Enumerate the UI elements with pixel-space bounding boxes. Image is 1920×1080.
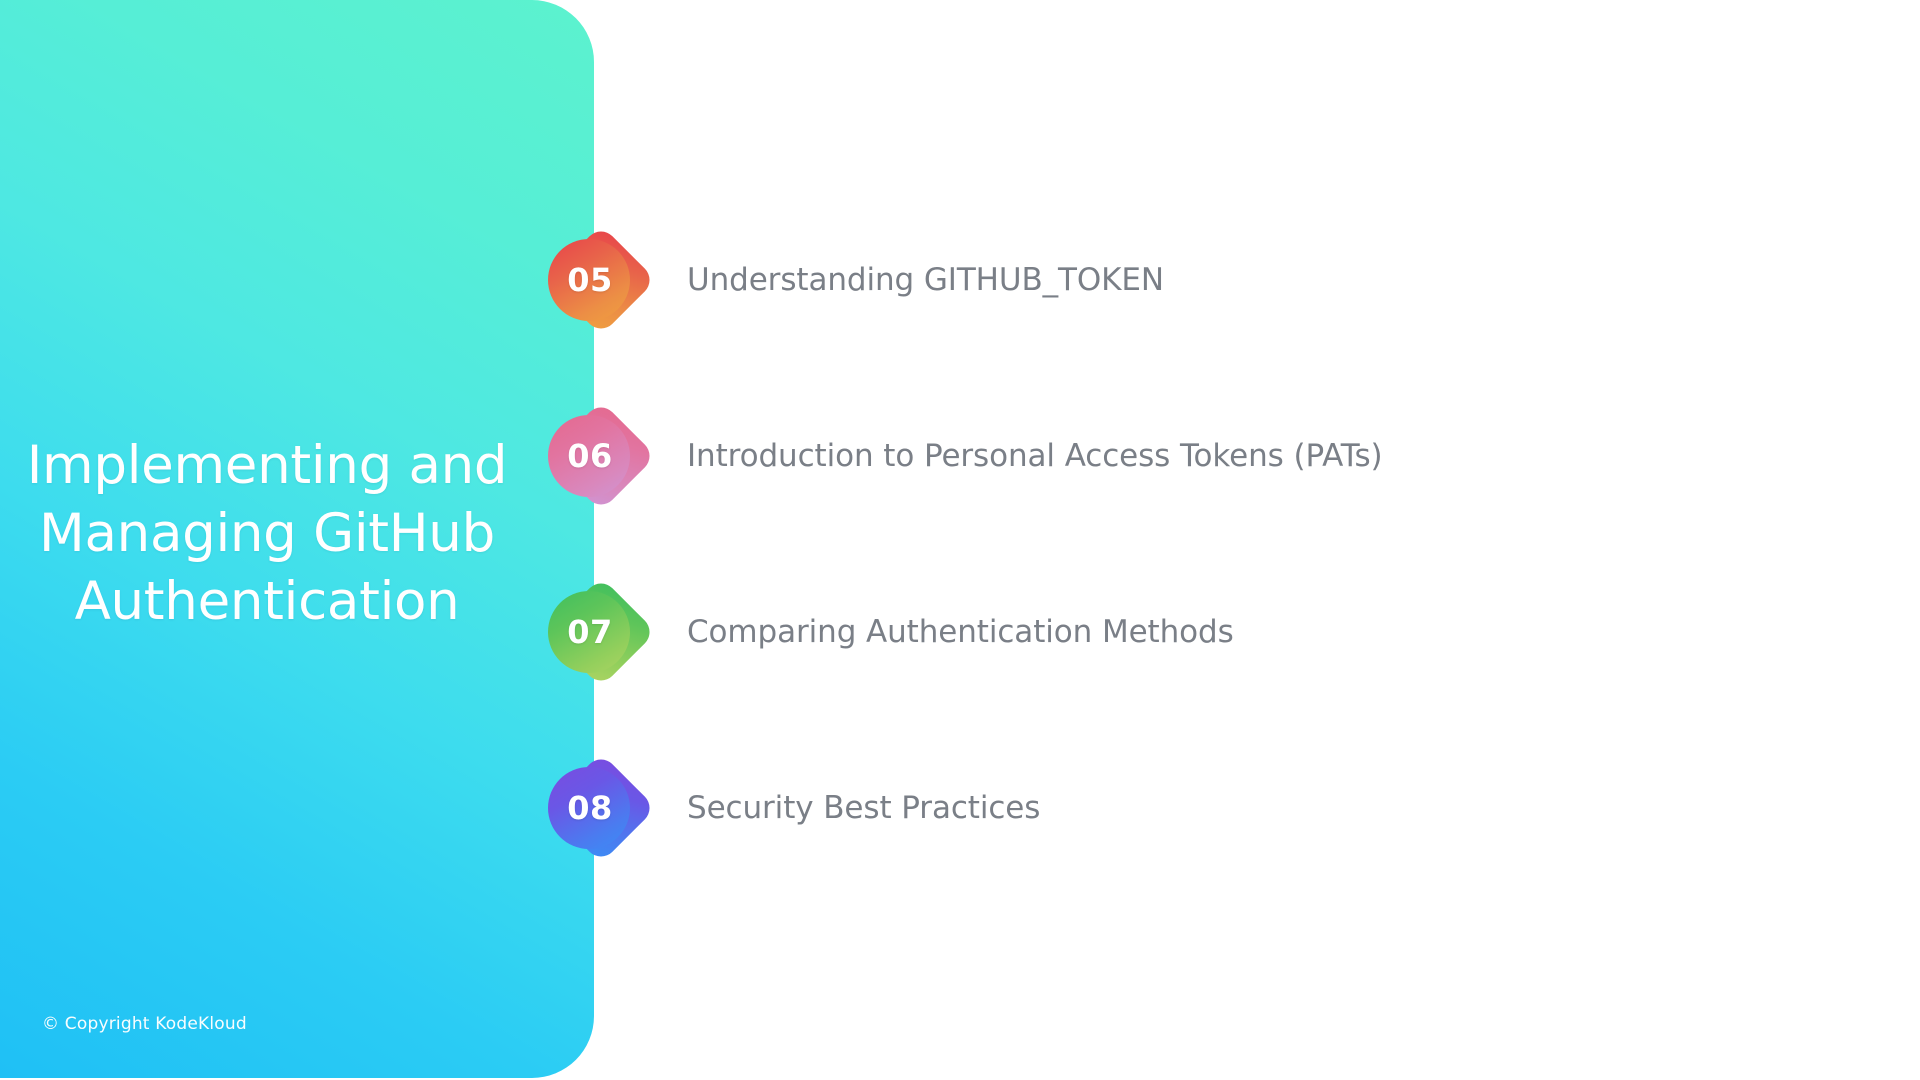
- badge-07: 07: [548, 577, 644, 687]
- agenda-item-05[interactable]: 05 Understanding GITHUB_TOKEN: [548, 225, 1164, 335]
- agenda-item-07[interactable]: 07 Comparing Authentication Methods: [548, 577, 1234, 687]
- badge-number: 05: [548, 225, 632, 335]
- agenda-slide: Implementing and Managing GitHub Authent…: [0, 0, 1920, 1080]
- agenda-list: 05 Understanding GITHUB_TOKEN 06 Introdu…: [0, 0, 1920, 1080]
- badge-number: 06: [548, 401, 632, 511]
- badge-06: 06: [548, 401, 644, 511]
- badge-08: 08: [548, 753, 644, 863]
- badge-05: 05: [548, 225, 644, 335]
- agenda-item-08[interactable]: 08 Security Best Practices: [548, 753, 1040, 863]
- agenda-item-label: Understanding GITHUB_TOKEN: [687, 262, 1164, 298]
- agenda-item-label: Security Best Practices: [687, 790, 1040, 826]
- agenda-item-label: Introduction to Personal Access Tokens (…: [687, 438, 1383, 474]
- badge-number: 08: [548, 753, 632, 863]
- agenda-item-label: Comparing Authentication Methods: [687, 614, 1234, 650]
- agenda-item-06[interactable]: 06 Introduction to Personal Access Token…: [548, 401, 1383, 511]
- badge-number: 07: [548, 577, 632, 687]
